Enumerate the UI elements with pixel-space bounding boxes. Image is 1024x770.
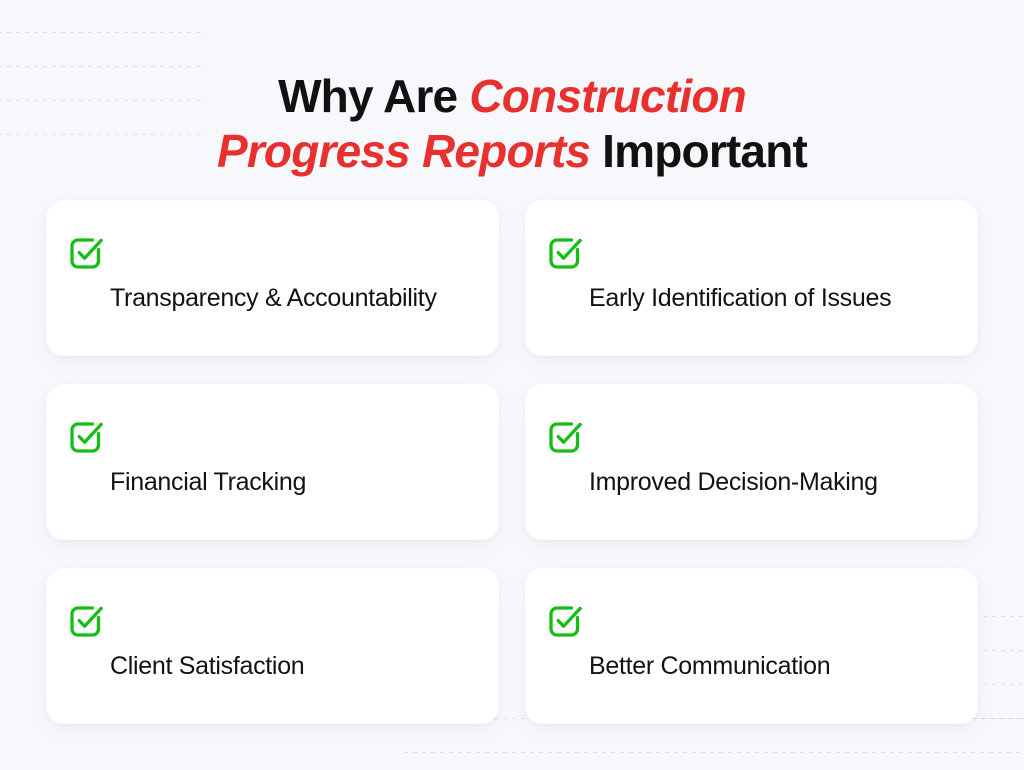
title-emphasis-2: Progress Reports (217, 125, 590, 177)
benefit-card-label: Improved Decision-Making (589, 468, 878, 497)
check-square-icon (544, 230, 588, 274)
benefit-card[interactable]: Better Communication (525, 568, 978, 724)
benefit-card[interactable]: Client Satisfaction (46, 568, 499, 724)
check-square-icon (65, 230, 109, 274)
benefit-card[interactable]: Improved Decision-Making (525, 384, 978, 540)
benefit-card[interactable]: Early Identification of Issues (525, 200, 978, 356)
check-square-icon (544, 414, 588, 458)
benefit-card-label: Client Satisfaction (110, 652, 304, 681)
benefit-card[interactable]: Financial Tracking (46, 384, 499, 540)
benefit-card-label: Early Identification of Issues (589, 284, 891, 313)
grid-line-vertical (1016, 718, 1017, 719)
grid-line-vertical (982, 718, 983, 719)
grid-line-horizontal (0, 32, 206, 33)
grid-line-horizontal (0, 66, 206, 67)
benefit-card-label: Financial Tracking (110, 468, 306, 497)
check-square-icon (544, 598, 588, 642)
benefit-card[interactable]: Transparency & Accountability (46, 200, 499, 356)
grid-line-horizontal (404, 752, 1024, 753)
title-emphasis-1: Construction (469, 70, 746, 122)
title-line-2: Progress Reports Important (217, 125, 807, 177)
title-line-1: Why Are Construction (278, 70, 746, 122)
grid-line-vertical (990, 616, 991, 617)
check-square-icon (65, 598, 109, 642)
title-plain-2: Important (590, 125, 807, 177)
title-plain-1: Why Are (278, 70, 469, 122)
benefit-card-grid: Transparency & Accountability Early Iden… (46, 200, 978, 724)
decorative-grid-bottom (404, 718, 1024, 770)
benefit-card-label: Better Communication (589, 652, 830, 681)
check-square-icon (65, 414, 109, 458)
benefit-card-label: Transparency & Accountability (110, 284, 437, 313)
page-title: Why Are Construction Progress Reports Im… (0, 69, 1024, 179)
